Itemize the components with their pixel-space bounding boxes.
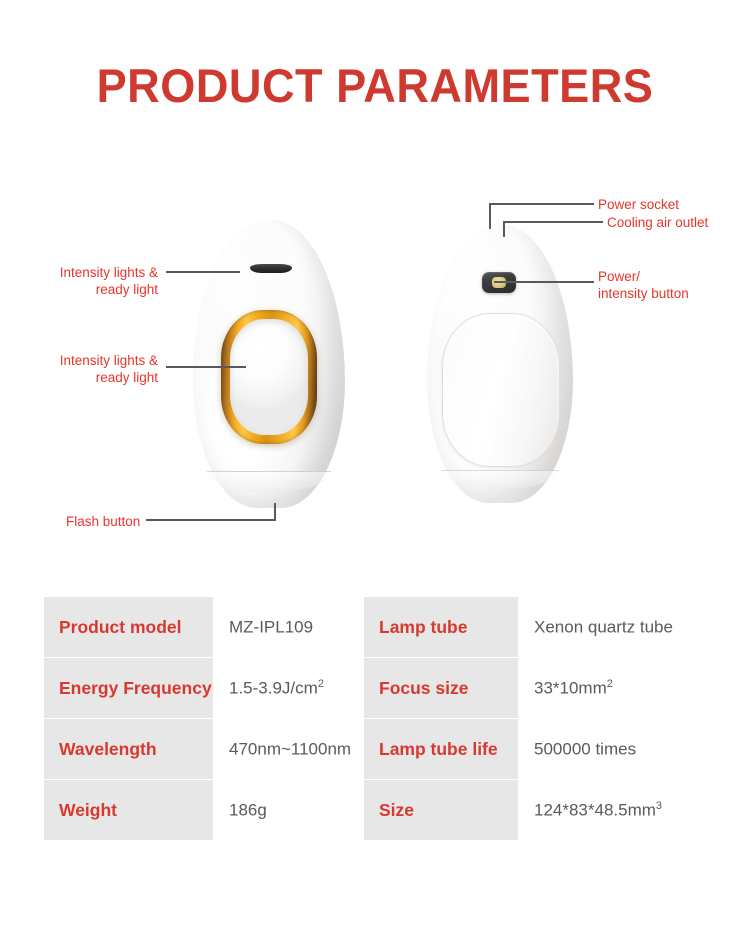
spec-label: Focus size	[364, 658, 519, 719]
leader-line-intensity-lower	[166, 366, 246, 368]
flash-window	[221, 310, 317, 444]
annotation-intensity-lights-lower: Intensity lights & ready light	[10, 352, 158, 386]
back-panel	[442, 313, 560, 467]
spec-value-text: Xenon quartz tube	[534, 617, 673, 636]
spec-value: 124*83*48.5mm3	[519, 780, 713, 841]
spec-value-text: 470nm~1100nm	[229, 739, 351, 758]
spec-label: Lamp tube	[364, 597, 519, 658]
spec-label: Product model	[44, 597, 214, 658]
leader-line-power-button	[494, 281, 594, 283]
device-front-view	[193, 220, 345, 508]
spec-value-text: 33*10mm	[534, 678, 607, 697]
leader-line-power-socket-drop	[489, 203, 491, 229]
annotation-power-intensity-button: Power/ intensity button	[598, 268, 748, 302]
leader-line-flash-button-hook	[274, 503, 276, 521]
intensity-indicator-slot	[250, 264, 292, 273]
device-back-view	[427, 225, 573, 503]
page-title: PRODUCT PARAMETERS	[15, 58, 735, 114]
spec-value-text: 1.5-3.9J/cm	[229, 678, 318, 697]
annotation-power-socket: Power socket	[598, 196, 748, 213]
spec-label: Energy Frequency	[44, 658, 214, 719]
spec-value-text: MZ-IPL109	[229, 617, 313, 636]
table-row: Weight 186g Size 124*83*48.5mm3	[44, 780, 713, 841]
spec-label: Wavelength	[44, 719, 214, 780]
leader-line-cooling-outlet-drop	[503, 221, 505, 237]
spec-value-text: 186g	[229, 800, 267, 819]
table-row: Energy Frequency 1.5-3.9J/cm2 Focus size…	[44, 658, 713, 719]
leader-line-intensity-top	[166, 271, 240, 273]
spec-value-sup: 3	[656, 800, 662, 812]
spec-value: Xenon quartz tube	[519, 597, 713, 658]
spec-label: Size	[364, 780, 519, 841]
product-diagram: Intensity lights & ready light Intensity…	[0, 150, 750, 570]
spec-label: Weight	[44, 780, 214, 841]
spec-label: Lamp tube life	[364, 719, 519, 780]
spec-value-sup: 2	[318, 678, 324, 690]
device-base-seam-back	[442, 470, 559, 489]
spec-value: 1.5-3.9J/cm2	[214, 658, 364, 719]
spec-value: MZ-IPL109	[214, 597, 364, 658]
table-row: Wavelength 470nm~1100nm Lamp tube life 5…	[44, 719, 713, 780]
spec-value: 186g	[214, 780, 364, 841]
spec-value-text: 500000 times	[534, 739, 636, 758]
spec-value-text: 124*83*48.5mm	[534, 800, 656, 819]
leader-line-power-socket	[489, 203, 594, 205]
spec-table-body: Product model MZ-IPL109 Lamp tube Xenon …	[44, 597, 713, 841]
table-row: Product model MZ-IPL109 Lamp tube Xenon …	[44, 597, 713, 658]
spec-table: Product model MZ-IPL109 Lamp tube Xenon …	[43, 596, 713, 841]
leader-line-cooling-outlet	[503, 221, 603, 223]
spec-value-sup: 2	[607, 678, 613, 690]
annotation-cooling-air-outlet: Cooling air outlet	[607, 214, 750, 231]
spec-value: 470nm~1100nm	[214, 719, 364, 780]
spec-value: 33*10mm2	[519, 658, 713, 719]
spec-value: 500000 times	[519, 719, 713, 780]
device-base-seam	[207, 471, 332, 492]
annotation-flash-button: Flash button	[66, 513, 186, 530]
annotation-intensity-lights-top: Intensity lights & ready light	[10, 264, 158, 298]
